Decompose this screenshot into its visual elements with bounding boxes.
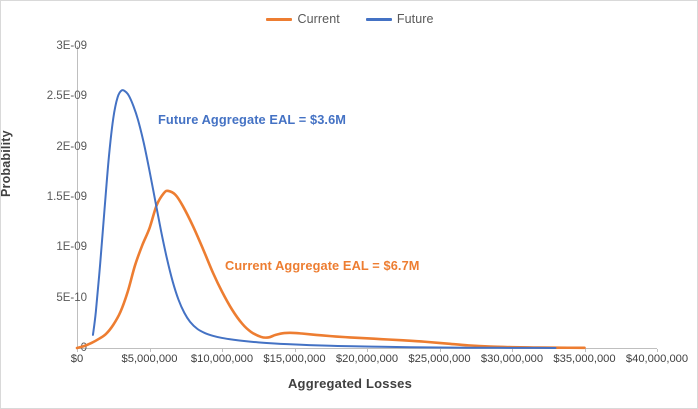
annotation-current-eal: Current Aggregate EAL = $6.7M (225, 258, 420, 273)
series-line-future (93, 90, 556, 348)
chart-plot-svg (1, 1, 698, 409)
annotation-future-eal: Future Aggregate EAL = $3.6M (158, 112, 346, 127)
chart-container: Current Future 05E-101E-091.5E-092E-092.… (0, 0, 698, 409)
